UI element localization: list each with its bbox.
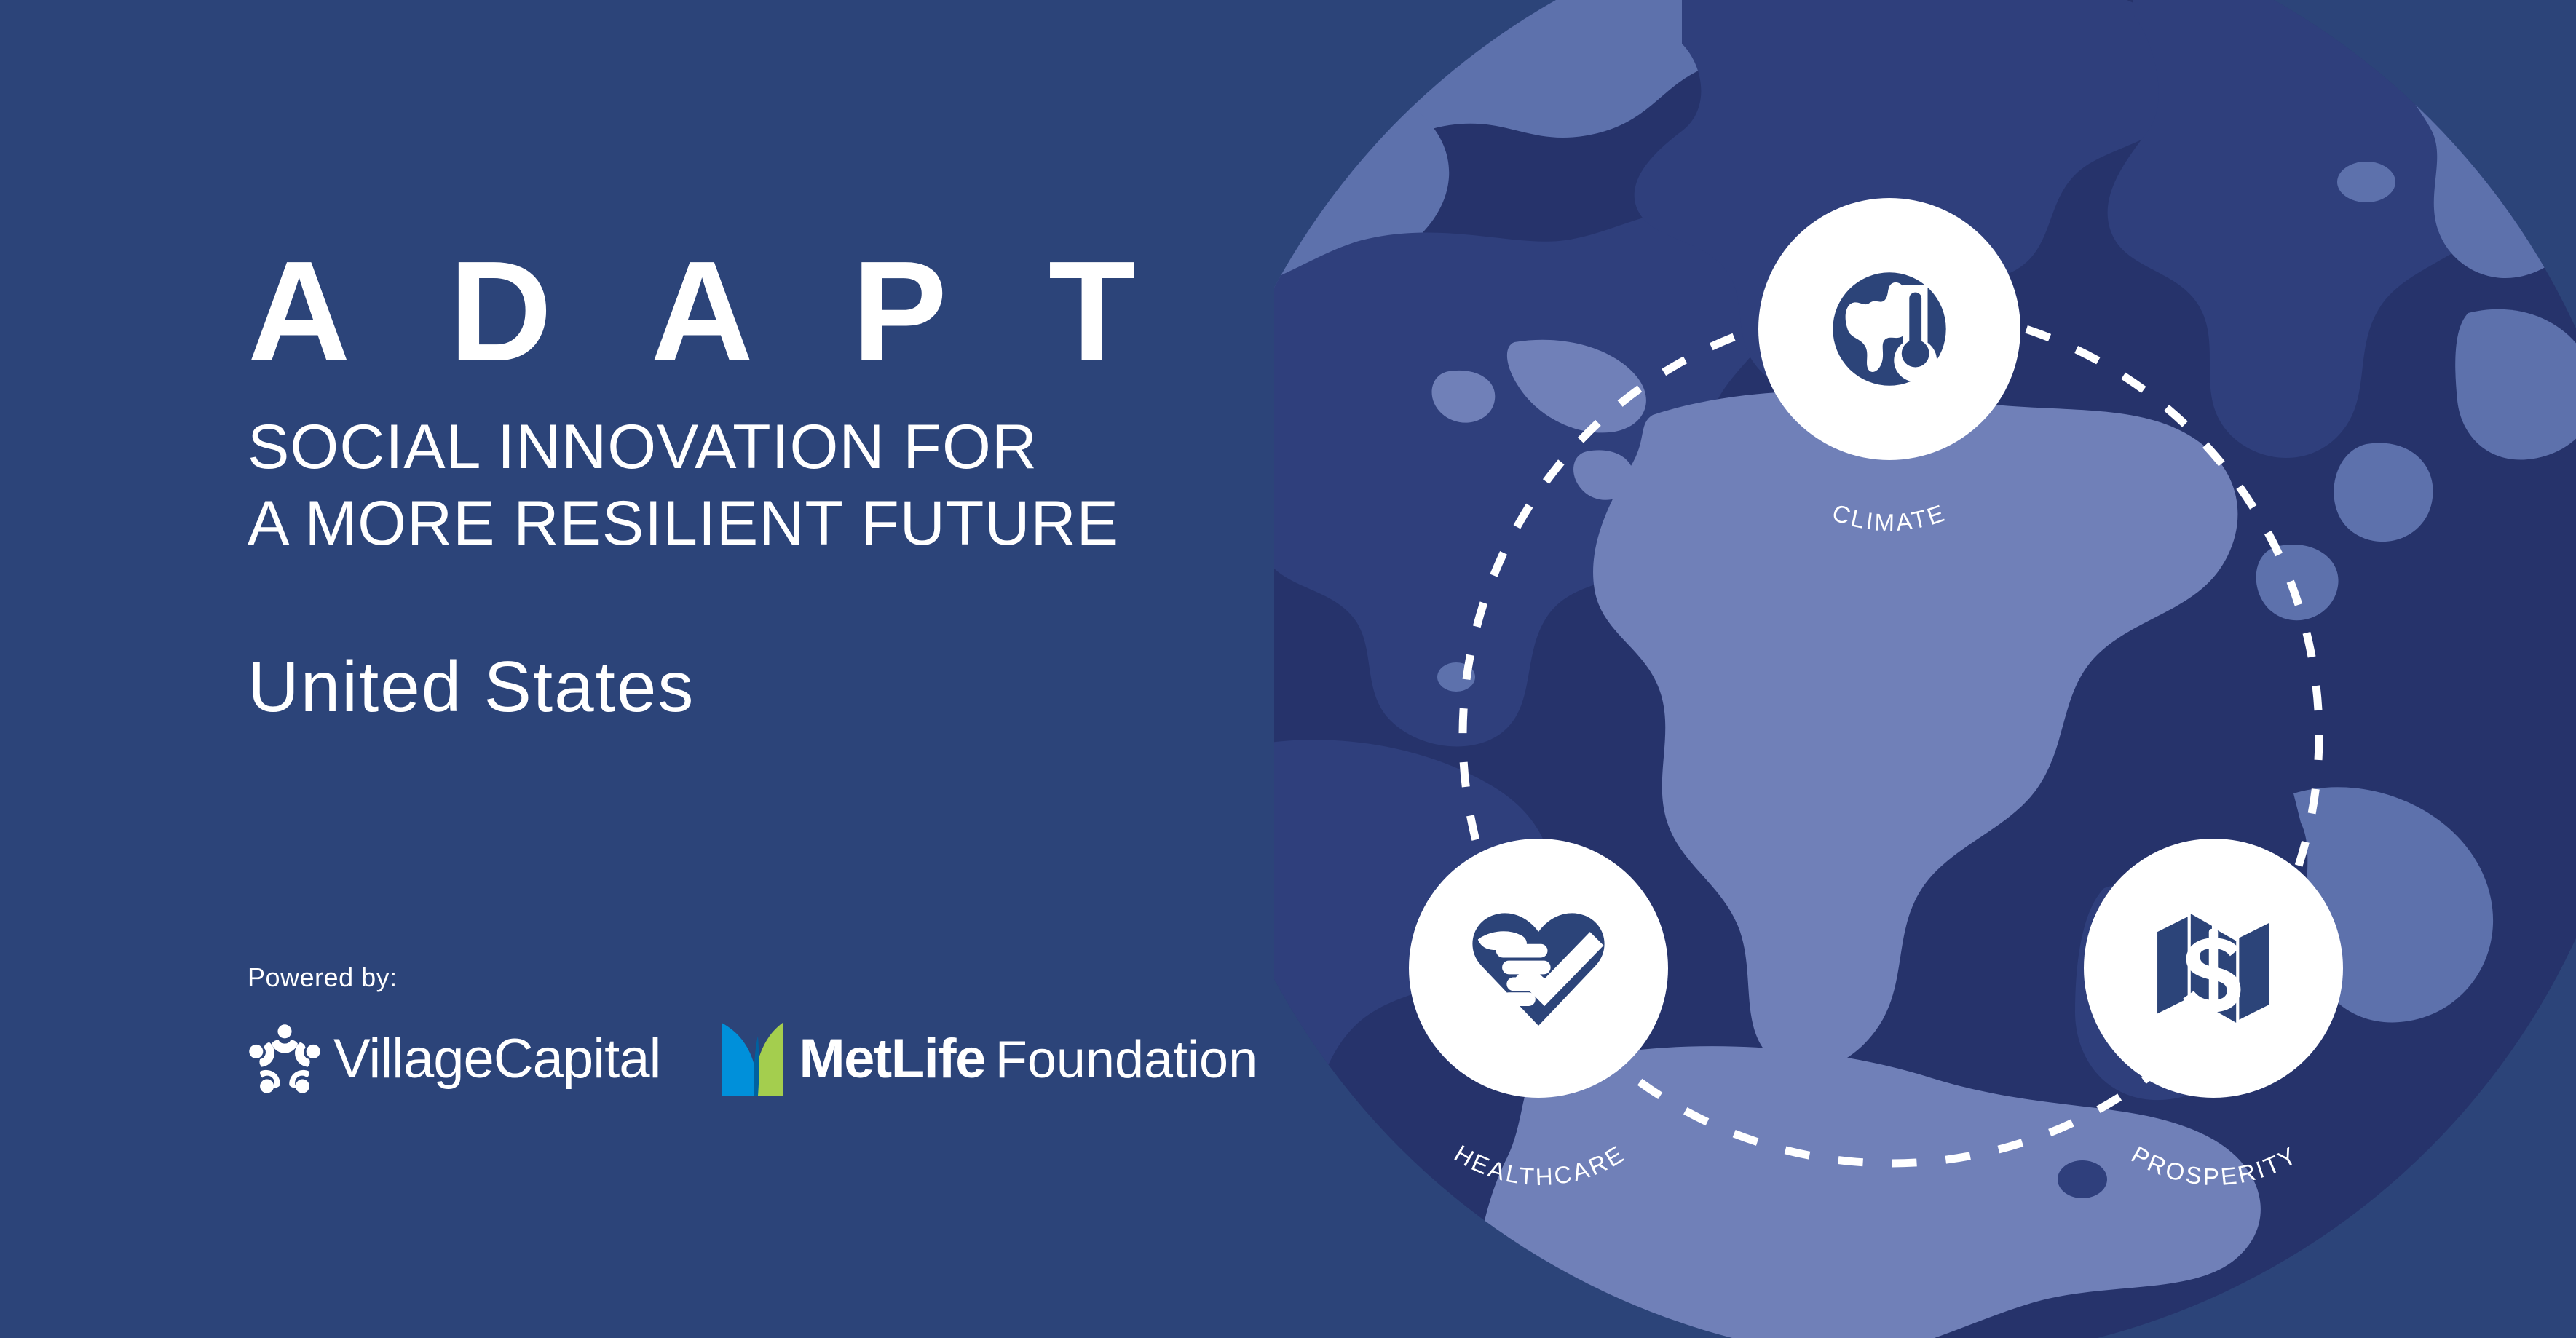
metlife-foundation-logo[interactable]: MetLifeFoundation (720, 1021, 1257, 1097)
pillar-node-climate[interactable] (1758, 198, 2020, 460)
pillar-node-healthcare[interactable] (1409, 839, 1668, 1098)
village-capital-logo[interactable]: VillageCapital (246, 1021, 660, 1098)
powered-by-label: Powered by: (248, 962, 398, 993)
hero-text-block: A D A P T SOCIAL INNOVATION FOR A MORE R… (248, 240, 1209, 727)
foundation-name: Foundation (995, 1031, 1257, 1089)
folded-map-dollar-icon (2138, 892, 2289, 1044)
poster-canvas: A D A P T SOCIAL INNOVATION FOR A MORE R… (0, 0, 2576, 1338)
globe-thermometer-icon (1813, 253, 1966, 405)
metlife-wordmark: MetLifeFoundation (799, 1032, 1257, 1087)
partner-logos: VillageCapital MetLifeFoundation (246, 1021, 1257, 1098)
metlife-name: MetLife (799, 1028, 985, 1090)
heart-hand-icon (1463, 892, 1614, 1044)
village-capital-people-icon (246, 1021, 323, 1098)
tagline-line-1: SOCIAL INNOVATION FOR (248, 412, 1038, 482)
pillar-node-prosperity[interactable] (2084, 839, 2343, 1098)
tagline-line-2: A MORE RESILIENT FUTURE (248, 486, 1209, 562)
country-name: United States (248, 648, 1209, 727)
village-capital-wordmark: VillageCapital (333, 1032, 660, 1087)
page-title: A D A P T (248, 240, 1209, 383)
metlife-m-icon (720, 1021, 784, 1097)
hero-tagline: SOCIAL INNOVATION FOR A MORE RESILIENT F… (248, 409, 1209, 562)
